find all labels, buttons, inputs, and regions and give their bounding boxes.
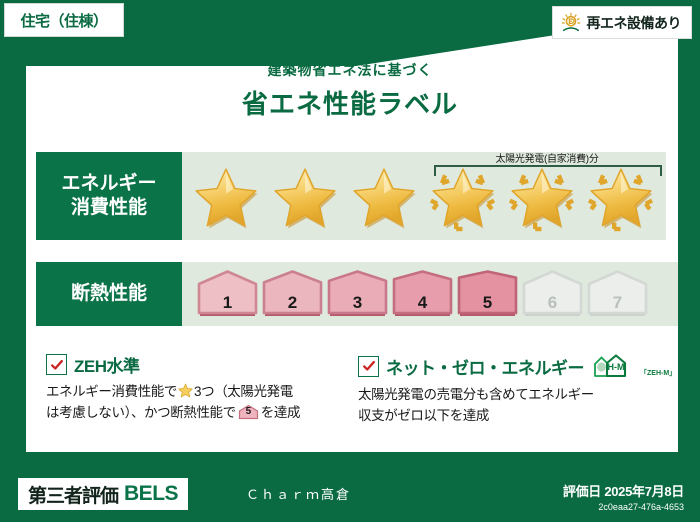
zeh-desc-part2: は考慮しない）、かつ断熱性能で [46,405,236,420]
insulation-level-scale: 1234567 [196,270,649,318]
zeh-title: ZEH水準 [74,352,140,377]
net-zero-description: 太陽光発電の売電分も含めてエネルギー 収支がゼロ以下を達成 [358,385,668,427]
sun-renewable-icon [560,12,582,34]
label-title-block: 建築物省エネ法に基づく 省エネ性能ラベル [0,60,700,121]
inline-star-icon [178,383,193,398]
insulation-level-number: 2 [261,293,324,313]
insulation-level-number: 4 [391,293,454,313]
insulation-level-2: 2 [261,270,324,318]
star-5 [502,154,581,238]
bels-energy-label: 住宅（住棟） 再エネ設備あり 建築物省エネ法に基づく 省エネ性能ラベル エネル [0,0,700,522]
insulation-label-text: 断熱性能 [71,282,147,306]
zeh-m-logo: H-M 「ZEH-M」 [592,352,676,380]
zeh-desc-part3: を達成 [261,405,300,420]
building-type-tab: 住宅（住棟） [4,3,124,37]
star-4 [423,154,502,238]
insulation-level-number: 3 [326,293,389,313]
net-zero-energy-section: ネット・ゼロ・エネルギー H-M 「ZEH-M」 太陽光発電の売電分も含めてエネ… [358,352,668,427]
star-icon [349,166,419,232]
energy-stars-body: 太陽光発電(自家消費)分 [182,152,666,240]
star-icon [428,166,498,232]
insulation-level-7: 7 [586,270,649,318]
insulation-performance-label: 断熱性能 [36,262,182,326]
evaluation-id: 2c0eaa27-476a-4653 [563,502,684,512]
bels-label: 第三者評価 [28,481,118,508]
net-zero-desc-line1: 太陽光発電の売電分も含めてエネルギー [358,387,594,402]
insulation-level-3: 3 [326,270,389,318]
star-icon [507,166,577,232]
insulation-level-number: 5 [456,293,519,313]
insulation-level-number: 7 [586,293,649,313]
renewable-energy-label: 再エネ設備あり [587,13,682,33]
star-3 [344,154,423,238]
title-subtitle: 建築物省エネ法に基づく [0,60,700,80]
title-main: 省エネ性能ラベル [0,84,700,121]
zeh-description: エネルギー消費性能で 3つ（太陽光発電は考慮しない）、かつ断熱性能で 5 を達成 [46,382,346,424]
property-name: Ｃｈａｒｍ高倉 [246,484,351,503]
star-2 [265,154,344,238]
net-zero-title: ネット・ゼロ・エネルギー [386,354,584,379]
check-icon [362,359,376,373]
star-icon [586,166,656,232]
evaluation-date: 評価日 2025年7月8日 [563,481,684,500]
renewable-energy-badge: 再エネ設備あり [552,6,693,39]
insulation-levels-body: 1234567 [182,262,678,326]
insulation-level-4: 4 [391,270,454,318]
zeh-heading: ZEH水準 [46,352,346,377]
insulation-level-number: 6 [521,293,584,313]
bels-certification-mark: 第三者評価 BELS [18,478,188,510]
star-1 [186,154,265,238]
zeh-standard-section: ZEH水準 エネルギー消費性能で 3つ（太陽光発電は考慮しない）、かつ断熱性能で… [46,352,346,424]
zeh-desc-part1: エネルギー消費性能で [46,384,177,399]
inline-badge-number: 5 [238,404,259,420]
net-zero-desc-line2: 収支がゼロ以下を達成 [358,408,489,423]
net-zero-checkbox [358,356,379,377]
star-rating [186,154,660,238]
evaluation-info: 評価日 2025年7月8日 2c0eaa27-476a-4653 [563,481,684,512]
insulation-level-1: 1 [196,270,259,318]
svg-text:H-M: H-M [608,362,625,372]
check-icon [50,358,64,372]
star-icon [270,166,340,232]
energy-label-line1: エネルギー [61,172,156,196]
energy-label-line2: 消費性能 [71,196,147,220]
zeh-m-caption: 「ZEH-M」 [640,368,676,380]
bels-mark: BELS [124,482,178,506]
insulation-level-5: 5 [456,270,519,318]
insulation-level-number: 1 [196,293,259,313]
zeh-checkbox [46,354,67,375]
energy-performance-row: エネルギー 消費性能 太陽光発電(自家消費)分 [36,152,666,240]
star-6 [581,154,660,238]
insulation-level-6: 6 [521,270,584,318]
building-type-label: 住宅（住棟） [20,10,107,31]
zeh-desc-star-count: 3つ（太陽光発電 [194,384,293,399]
energy-performance-label: エネルギー 消費性能 [36,152,182,240]
star-icon [191,166,261,232]
net-zero-heading: ネット・ゼロ・エネルギー H-M 「ZEH-M」 [358,352,668,380]
insulation-performance-row: 断熱性能 1234567 [36,262,678,326]
zeh-m-house-icon: H-M [592,352,638,380]
inline-insulation-badge: 5 [238,404,259,420]
